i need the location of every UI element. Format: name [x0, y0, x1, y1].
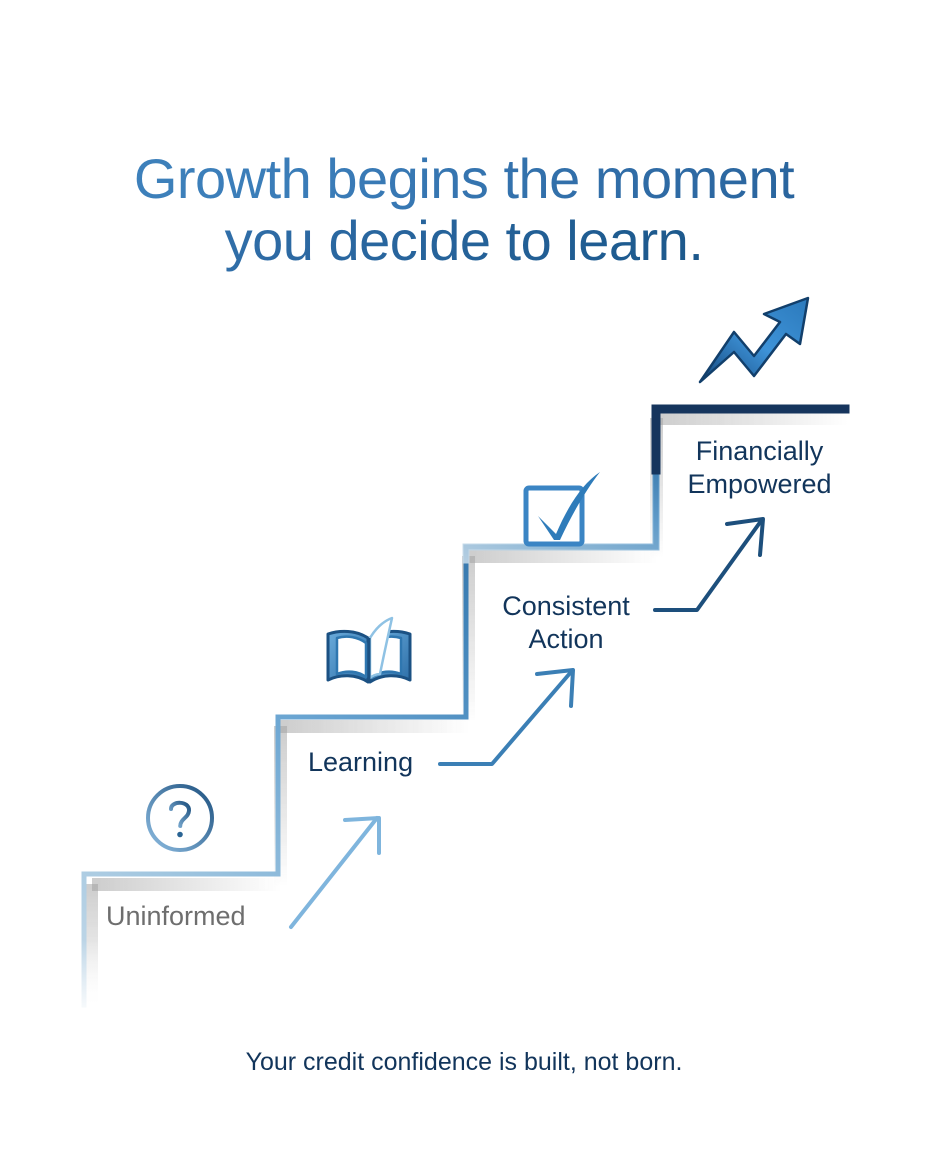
open-book-icon: [322, 612, 416, 694]
step-label-learning: Learning: [308, 746, 413, 779]
infographic-canvas: Growth begins the moment you decide to l…: [0, 0, 928, 1152]
checkbox-check-icon: [516, 466, 608, 550]
arrow-action-to-empowered: [655, 519, 763, 610]
step-label-uninformed: Uninformed: [106, 900, 246, 933]
upward-trend-arrow-icon: [696, 294, 816, 386]
step-label-consistent-action: Consistent Action: [490, 590, 642, 656]
step-label-financially-empowered: Financially Empowered: [678, 435, 841, 501]
question-mark-circle-icon: [142, 780, 218, 856]
footer-caption: Your credit confidence is built, not bor…: [0, 1048, 928, 1077]
staircase-diagram: [0, 0, 928, 1152]
arrow-uninformed-to-learning: [291, 818, 379, 927]
